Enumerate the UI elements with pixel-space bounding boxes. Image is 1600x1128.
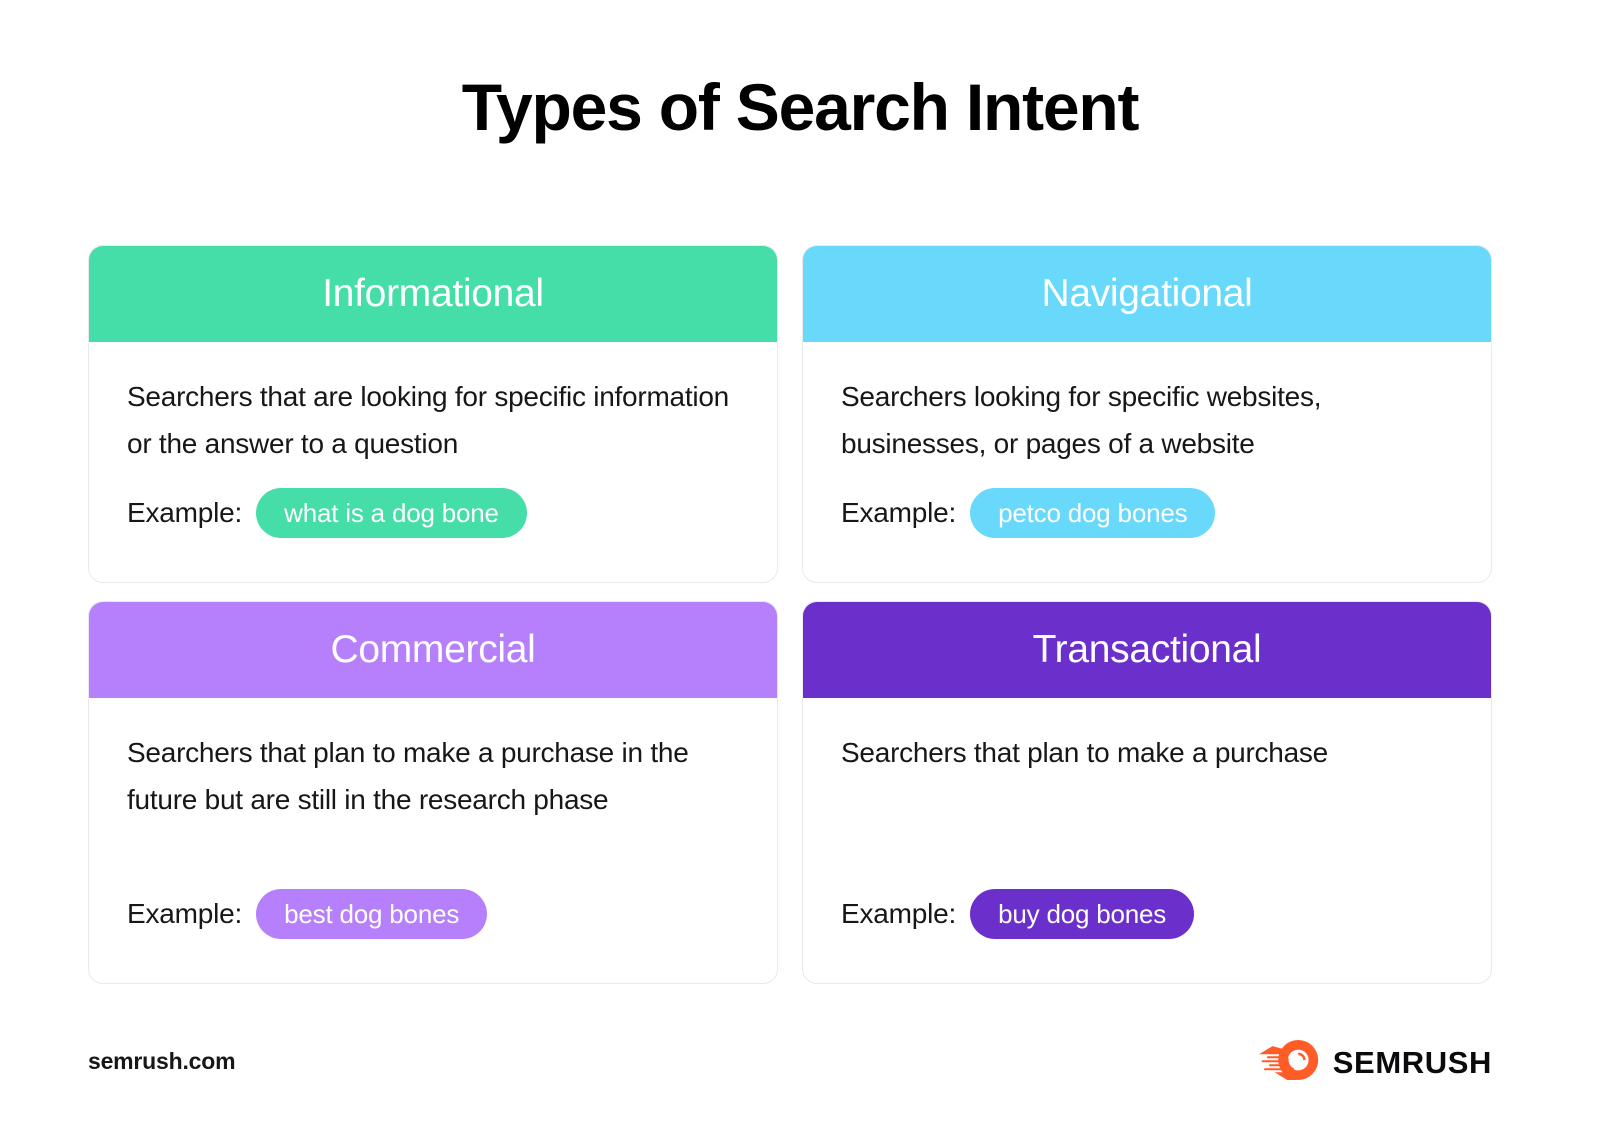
card-description: Searchers that plan to make a purchase i… <box>127 729 737 823</box>
card-heading: Transactional <box>1033 628 1262 672</box>
intent-card-commercial: Commercial Searchers that plan to make a… <box>88 601 778 984</box>
example-label: Example: <box>841 499 956 527</box>
card-heading: Commercial <box>330 628 535 672</box>
intent-card-informational: Informational Searchers that are looking… <box>88 245 778 583</box>
semrush-comet-icon <box>1258 1040 1320 1085</box>
brand-lockup: SEMRUSH <box>1258 1040 1492 1085</box>
card-body-informational: Searchers that are looking for specific … <box>89 342 777 582</box>
example-label: Example: <box>841 900 956 928</box>
intent-card-navigational: Navigational Searchers looking for speci… <box>802 245 1492 583</box>
example-row: Example: what is a dog bone <box>127 488 527 538</box>
card-body-commercial: Searchers that plan to make a purchase i… <box>89 698 777 983</box>
card-heading: Navigational <box>1041 272 1252 316</box>
example-keyword-pill[interactable]: what is a dog bone <box>256 488 527 538</box>
card-description: Searchers looking for specific websites,… <box>841 373 1451 467</box>
example-keyword-pill[interactable]: best dog bones <box>256 889 487 939</box>
card-description: Searchers that are looking for specific … <box>127 373 737 467</box>
card-body-transactional: Searchers that plan to make a purchase E… <box>803 698 1491 983</box>
brand-name: SEMRUSH <box>1333 1047 1492 1078</box>
example-row: Example: petco dog bones <box>841 488 1215 538</box>
example-keyword-pill[interactable]: buy dog bones <box>970 889 1194 939</box>
example-row: Example: buy dog bones <box>841 889 1194 939</box>
example-row: Example: best dog bones <box>127 889 487 939</box>
card-body-navigational: Searchers looking for specific websites,… <box>803 342 1491 582</box>
card-heading: Informational <box>322 272 544 316</box>
page-title: Types of Search Intent <box>0 70 1600 146</box>
example-keyword-pill[interactable]: petco dog bones <box>970 488 1215 538</box>
infographic-page: Types of Search Intent Informational Sea… <box>0 0 1600 1128</box>
intent-card-transactional: Transactional Searchers that plan to mak… <box>802 601 1492 984</box>
intent-card-grid: Informational Searchers that are looking… <box>88 245 1492 984</box>
example-label: Example: <box>127 499 242 527</box>
card-header-transactional: Transactional <box>803 602 1491 698</box>
card-header-navigational: Navigational <box>803 246 1491 342</box>
card-description: Searchers that plan to make a purchase <box>841 729 1451 776</box>
footer: semrush.com SEMRUSH <box>0 1040 1600 1100</box>
footer-url: semrush.com <box>88 1048 235 1075</box>
card-header-commercial: Commercial <box>89 602 777 698</box>
example-label: Example: <box>127 900 242 928</box>
card-header-informational: Informational <box>89 246 777 342</box>
